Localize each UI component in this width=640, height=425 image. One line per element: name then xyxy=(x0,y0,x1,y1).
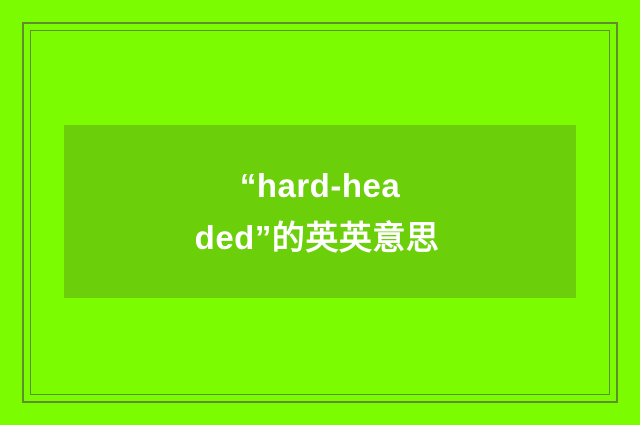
banner-canvas: “hard-hea ded”的英英意思 xyxy=(0,0,640,425)
title-line-1: “hard-hea xyxy=(240,160,400,212)
title-plate: “hard-hea ded”的英英意思 xyxy=(64,125,576,298)
title-line-2: ded”的英英意思 xyxy=(201,212,440,264)
